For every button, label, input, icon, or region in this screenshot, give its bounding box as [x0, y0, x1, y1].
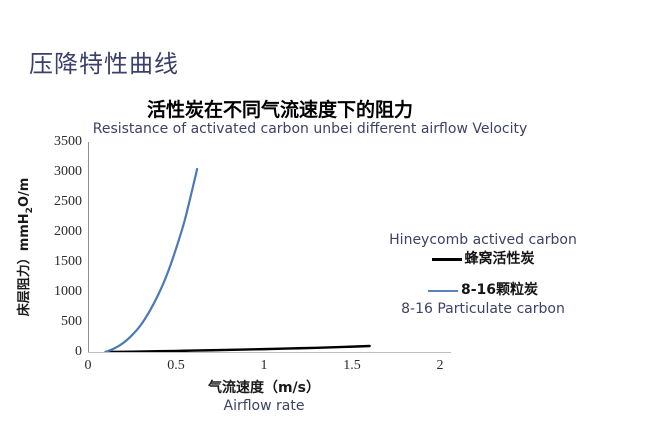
y-tick-label: 3000 [36, 164, 82, 180]
legend-spacer [372, 269, 594, 280]
x-tick-label: 0 [85, 358, 92, 374]
x-tick-label: 0.5 [167, 358, 185, 374]
y-tick-label: 0 [36, 344, 82, 360]
series-line [106, 169, 198, 352]
x-tick-label: 2 [437, 358, 444, 374]
legend-caption-top: Hineycomb actived carbon [372, 231, 594, 249]
legend-entry-honeycomb[interactable]: 蜂窝活性炭 [372, 250, 594, 269]
x-axis-title-english: Airflow rate [88, 398, 440, 414]
y-tick-label: 3500 [36, 134, 82, 150]
x-tick-label: 1 [261, 358, 268, 374]
y-axis-title: 床层阻力）mmH2O/m [13, 178, 35, 317]
x-axis-tick-labels: 00.511.52 [88, 358, 440, 376]
chart-container: 活性炭在不同气流速度下的阻力 Resistance of activated c… [0, 0, 653, 448]
y-axis-tick-labels: 0500100015002000250030003500 [34, 142, 82, 352]
chart-subtitle: Resistance of activated carbon unbei dif… [0, 121, 620, 137]
legend-swatch-blue-line-icon [428, 290, 458, 292]
legend-entry-particulate[interactable]: 8-16颗粒炭 [372, 281, 594, 300]
y-tick-label: 1500 [36, 254, 82, 270]
chart-title: 活性炭在不同气流速度下的阻力 [0, 95, 560, 122]
legend-swatch-black-line-icon [432, 258, 462, 261]
x-axis-title: 气流速度（m/s） [88, 377, 440, 397]
x-tick-label: 1.5 [343, 358, 361, 374]
y-tick-label: 2500 [36, 194, 82, 210]
y-tick-label: 1000 [36, 284, 82, 300]
x-axis-line [88, 352, 451, 353]
legend-label-honeycomb: 蜂窝活性炭 [465, 250, 535, 269]
chart-legend: Hineycomb actived carbon 蜂窝活性炭 8-16颗粒炭 8… [372, 231, 594, 318]
series-line [106, 346, 370, 352]
legend-label-particulate: 8-16颗粒炭 [461, 281, 538, 300]
y-tick-label: 2000 [36, 224, 82, 240]
legend-caption-bottom: 8-16 Particulate carbon [372, 300, 594, 318]
y-tick-label: 500 [36, 314, 82, 330]
